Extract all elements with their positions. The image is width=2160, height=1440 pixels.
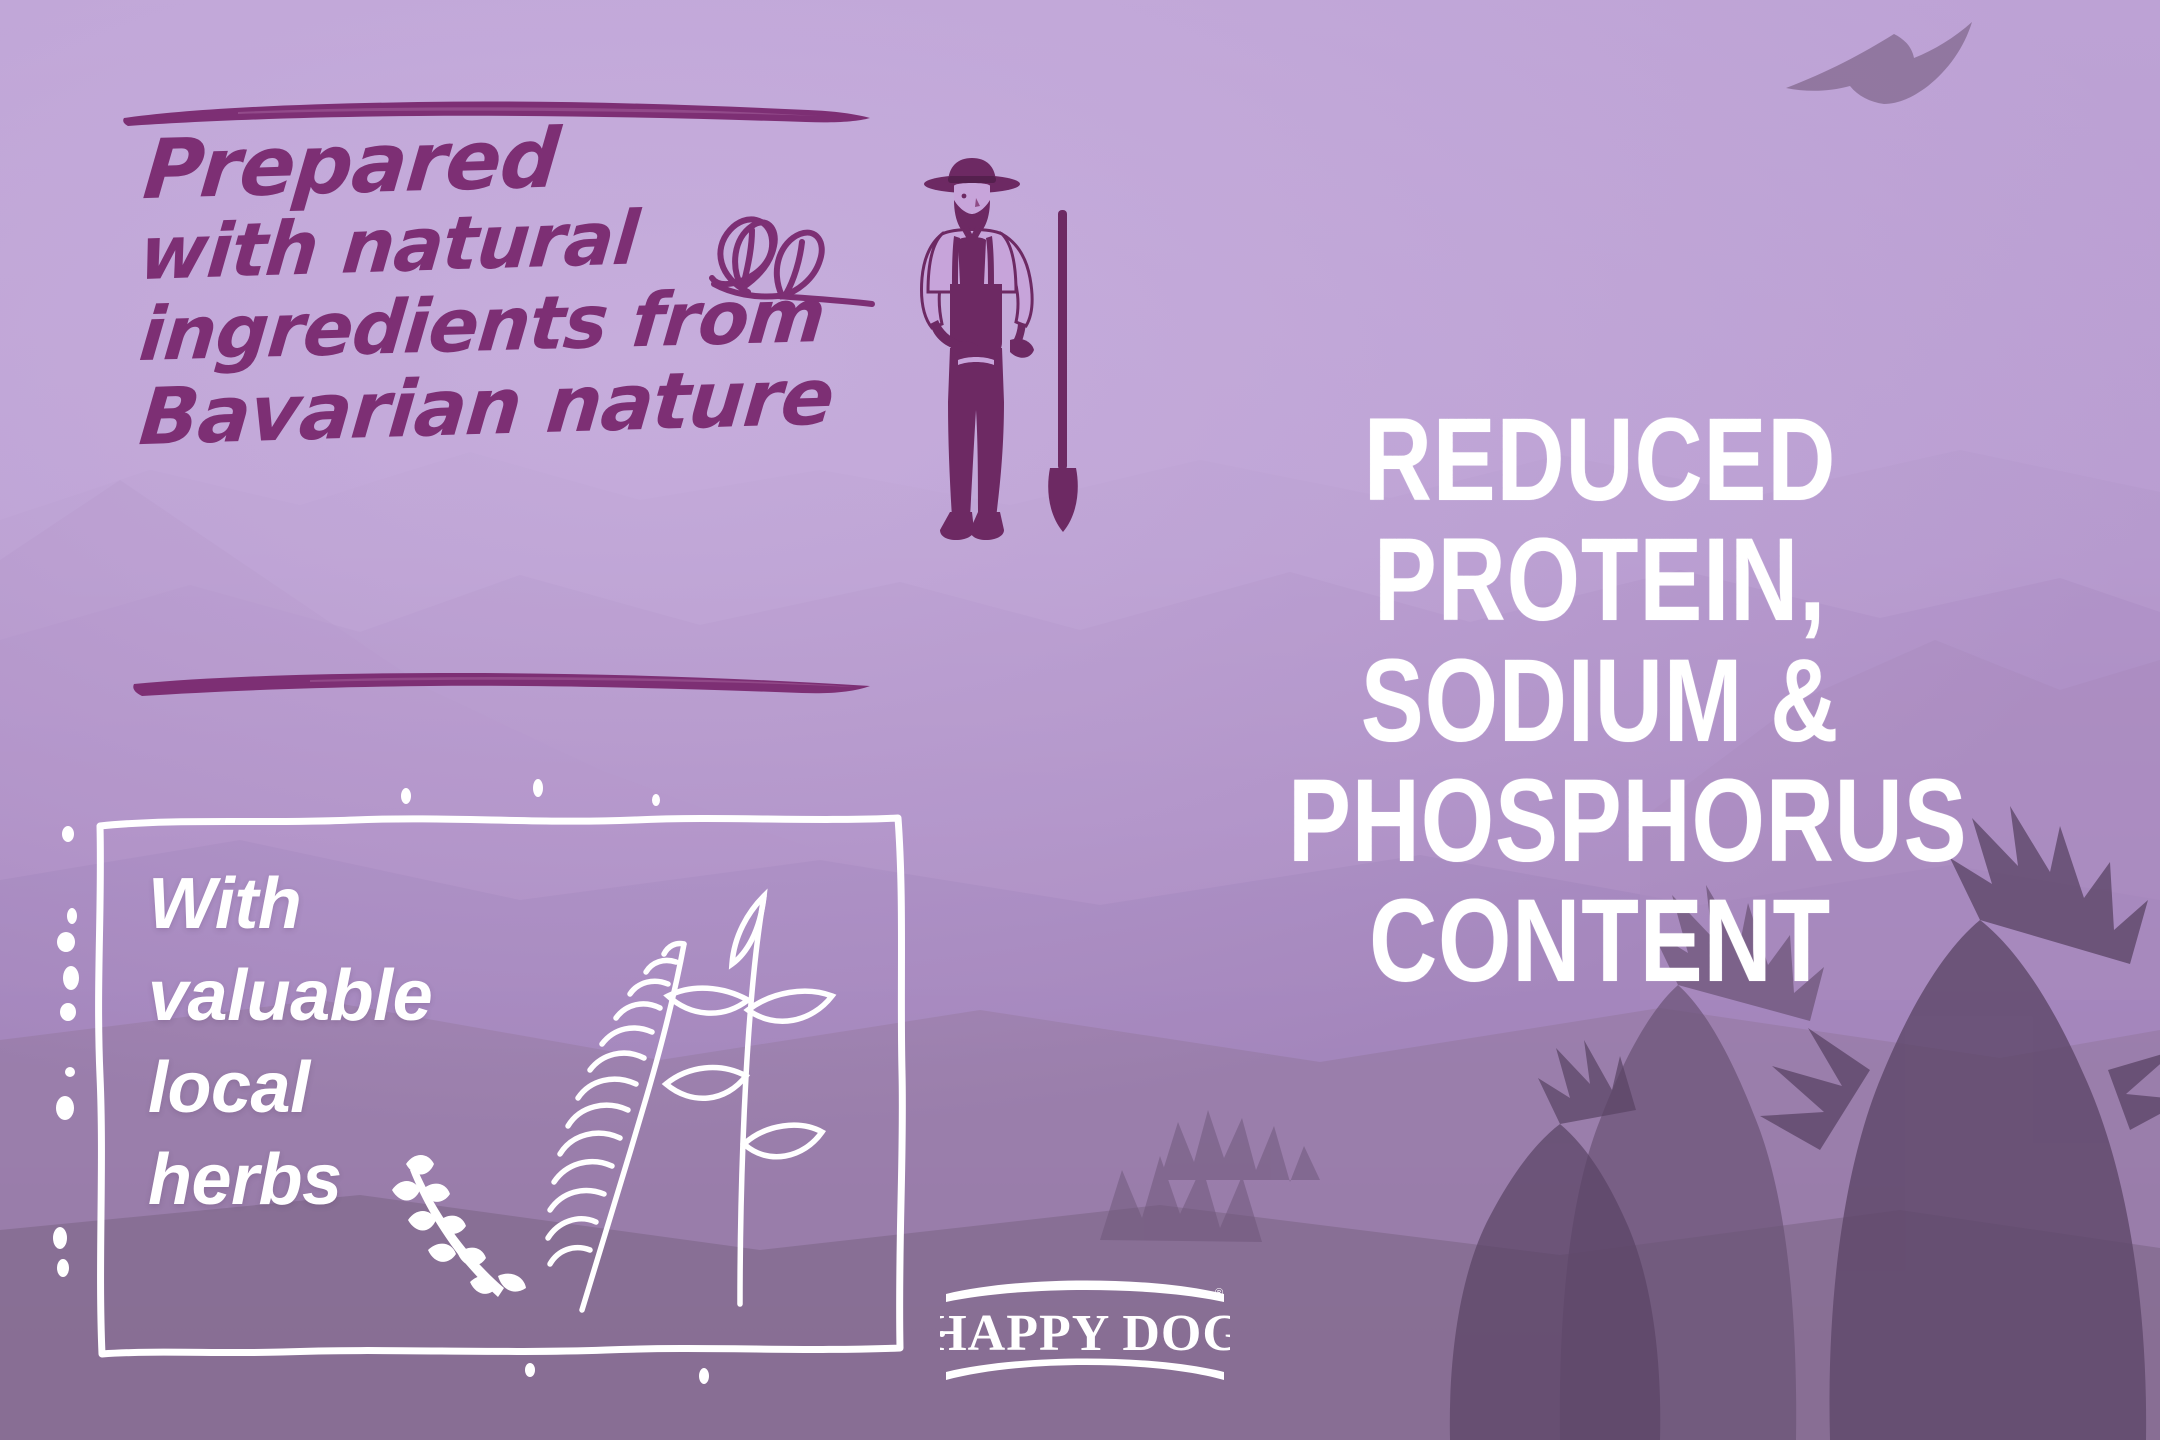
headline-line-5: CONTENT bbox=[1288, 881, 1912, 1001]
registered-trademark: ® bbox=[1215, 1287, 1223, 1299]
headline-line-4: PHOSPHORUS bbox=[1288, 761, 1912, 881]
herb-line-4: herbs bbox=[148, 1134, 432, 1226]
happy-dog-wordmark: HAPPY DOG bbox=[940, 1305, 1230, 1362]
script-line-4: Bavarian nature bbox=[137, 358, 904, 456]
headline-line-2: PROTEIN, bbox=[1288, 520, 1912, 640]
product-claim-headline: REDUCED PROTEIN, SODIUM & PHOSPHORUS CON… bbox=[1210, 400, 1990, 1002]
ink-splatter-dots-bottom bbox=[460, 1356, 820, 1396]
herb-callout-box: With valuable local herbs bbox=[86, 800, 916, 1370]
herb-line-1: With bbox=[148, 858, 432, 950]
herb-line-3: local bbox=[148, 1042, 432, 1134]
brush-rule-bottom bbox=[130, 658, 890, 702]
headline-line-3: SODIUM & bbox=[1288, 641, 1912, 761]
farmer-with-shovel-illustration bbox=[880, 152, 1110, 552]
ink-splatter-dots bbox=[34, 820, 104, 1350]
ink-splatter-dots-top bbox=[360, 770, 780, 820]
herb-line-2: valuable bbox=[148, 950, 432, 1042]
herb-box-text: With valuable local herbs bbox=[148, 858, 432, 1227]
leaf-flourish-doodle bbox=[690, 170, 880, 320]
headline-line-1: REDUCED bbox=[1288, 400, 1912, 520]
happy-dog-logo: HAPPY DOG ® bbox=[940, 1268, 1230, 1388]
packaging-panel: Prepared with natural ingredients from B… bbox=[0, 0, 2160, 1440]
